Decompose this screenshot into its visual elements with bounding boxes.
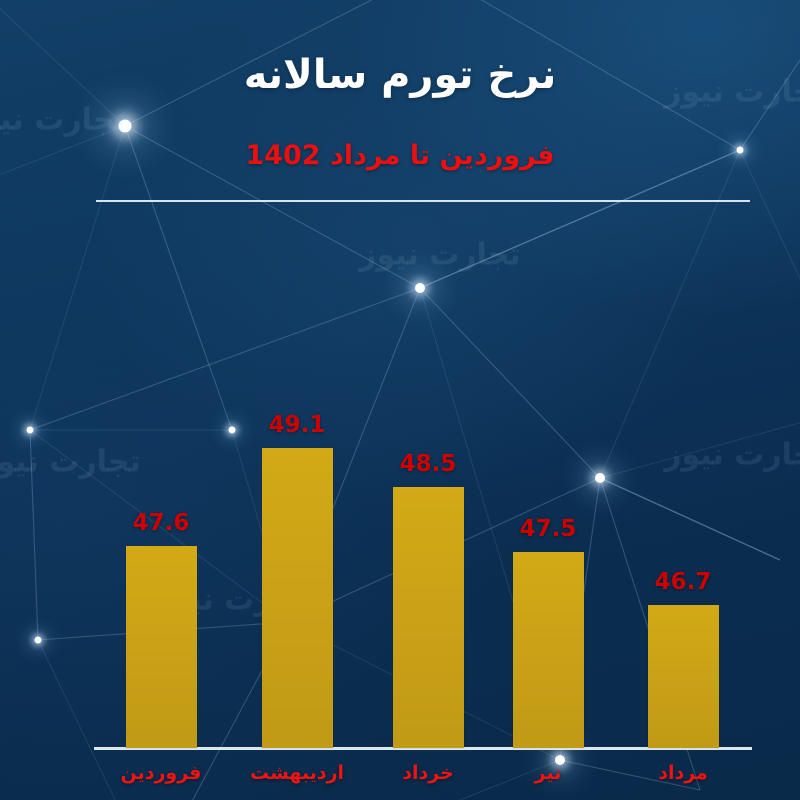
category-label: فروردین — [121, 762, 202, 784]
bar-4 — [513, 552, 584, 748]
bar-5 — [648, 605, 719, 748]
category-label: تیر — [535, 762, 562, 784]
category-label: خرداد — [402, 762, 454, 784]
bar-1 — [126, 546, 197, 748]
category-label: اردیبهشت — [250, 762, 344, 784]
bar-3 — [393, 487, 464, 748]
bar-value-label: 47.6 — [133, 510, 190, 536]
bar-value-label: 48.5 — [400, 451, 457, 477]
bar-value-label: 49.1 — [269, 412, 326, 438]
infographic-canvas: تجارت نیوز تجارت نیوز تجارت نیوز تجارت ن… — [0, 0, 800, 800]
bar-value-label: 47.5 — [520, 516, 577, 542]
bar-chart-plot: 47.6فروردین49.1اردیبهشت48.5خرداد47.5تیر4… — [0, 0, 800, 800]
bar-2 — [262, 448, 333, 748]
bar-value-label: 46.7 — [655, 569, 712, 595]
category-label: مرداد — [658, 762, 708, 784]
